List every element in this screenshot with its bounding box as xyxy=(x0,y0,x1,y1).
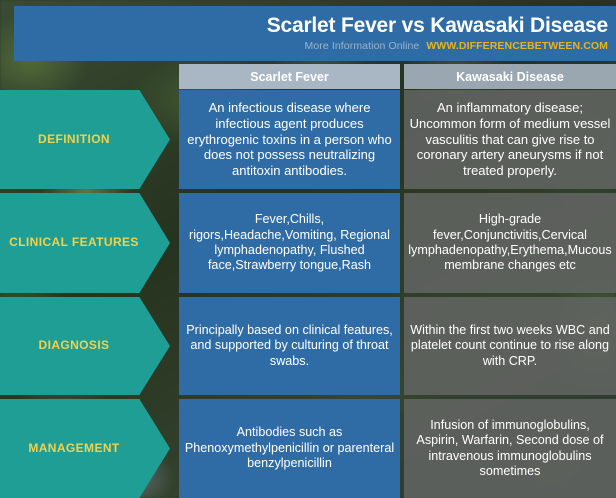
cell-management-kawasaki-disease: Infusion of immunoglobulins, Aspirin, Wa… xyxy=(404,399,616,498)
row-label-definition: DEFINITION xyxy=(0,90,170,189)
cell-management-scarlet-fever: Antibodies such as Phenoxymethylpenicill… xyxy=(179,399,400,498)
comparison-table: Scarlet Fever Kawasaki Disease DEFINITIO… xyxy=(0,61,616,498)
table-row: DEFINITION An infectious disease where i… xyxy=(0,90,616,189)
table-row: DIAGNOSIS Principally based on clinical … xyxy=(0,297,616,395)
subtitle-text: More Information Online xyxy=(304,40,419,52)
row-label-management: MANAGEMENT xyxy=(0,399,170,498)
source-website-url: WWW.DIFFERENCEBETWEEN.COM xyxy=(426,40,608,52)
row-label-text: DEFINITION xyxy=(38,132,110,148)
cell-text: An infectious disease where infectious a… xyxy=(183,100,396,179)
cell-definition-scarlet-fever: An infectious disease where infectious a… xyxy=(179,90,400,189)
cell-diagnosis-scarlet-fever: Principally based on clinical features, … xyxy=(179,297,400,395)
header-band: Scarlet Fever vs Kawasaki Disease More I… xyxy=(14,6,616,61)
page-title: Scarlet Fever vs Kawasaki Disease xyxy=(267,15,608,36)
row-label-text: MANAGEMENT xyxy=(28,441,119,457)
cell-definition-kawasaki-disease: An inflammatory disease; Uncommon form o… xyxy=(404,90,616,189)
table-row: MANAGEMENT Antibodies such as Phenoxymet… xyxy=(0,399,616,498)
column-header-scarlet-fever: Scarlet Fever xyxy=(179,64,400,89)
cell-text: Antibodies such as Phenoxymethylpenicill… xyxy=(183,425,396,471)
cell-text: High-grade fever,Conjunctivitis,Cervical… xyxy=(408,212,612,273)
cell-text: Principally based on clinical features, … xyxy=(183,323,396,369)
subtitle-line: More Information Online WWW.DIFFERENCEBE… xyxy=(304,40,608,52)
column-header-row: Scarlet Fever Kawasaki Disease xyxy=(0,61,616,90)
cell-clinical-features-scarlet-fever: Fever,Chills, rigors,Headache,Vomiting, … xyxy=(179,193,400,293)
cell-clinical-features-kawasaki-disease: High-grade fever,Conjunctivitis,Cervical… xyxy=(404,193,616,293)
cell-diagnosis-kawasaki-disease: Within the first two weeks WBC and plate… xyxy=(404,297,616,395)
row-label-clinical-features: CLINICAL FEATURES xyxy=(0,193,170,293)
infographic-page: Scarlet Fever vs Kawasaki Disease More I… xyxy=(0,0,616,498)
row-label-text: DIAGNOSIS xyxy=(39,338,110,354)
column-header-kawasaki-disease: Kawasaki Disease xyxy=(404,64,616,89)
cell-text: Within the first two weeks WBC and plate… xyxy=(408,323,612,369)
row-label-diagnosis: DIAGNOSIS xyxy=(0,297,170,395)
cell-text: Fever,Chills, rigors,Headache,Vomiting, … xyxy=(183,212,396,273)
row-label-text: CLINICAL FEATURES xyxy=(9,235,139,251)
cell-text: Infusion of immunoglobulins, Aspirin, Wa… xyxy=(408,418,612,479)
table-row: CLINICAL FEATURES Fever,Chills, rigors,H… xyxy=(0,193,616,293)
cell-text: An inflammatory disease; Uncommon form o… xyxy=(408,100,612,179)
